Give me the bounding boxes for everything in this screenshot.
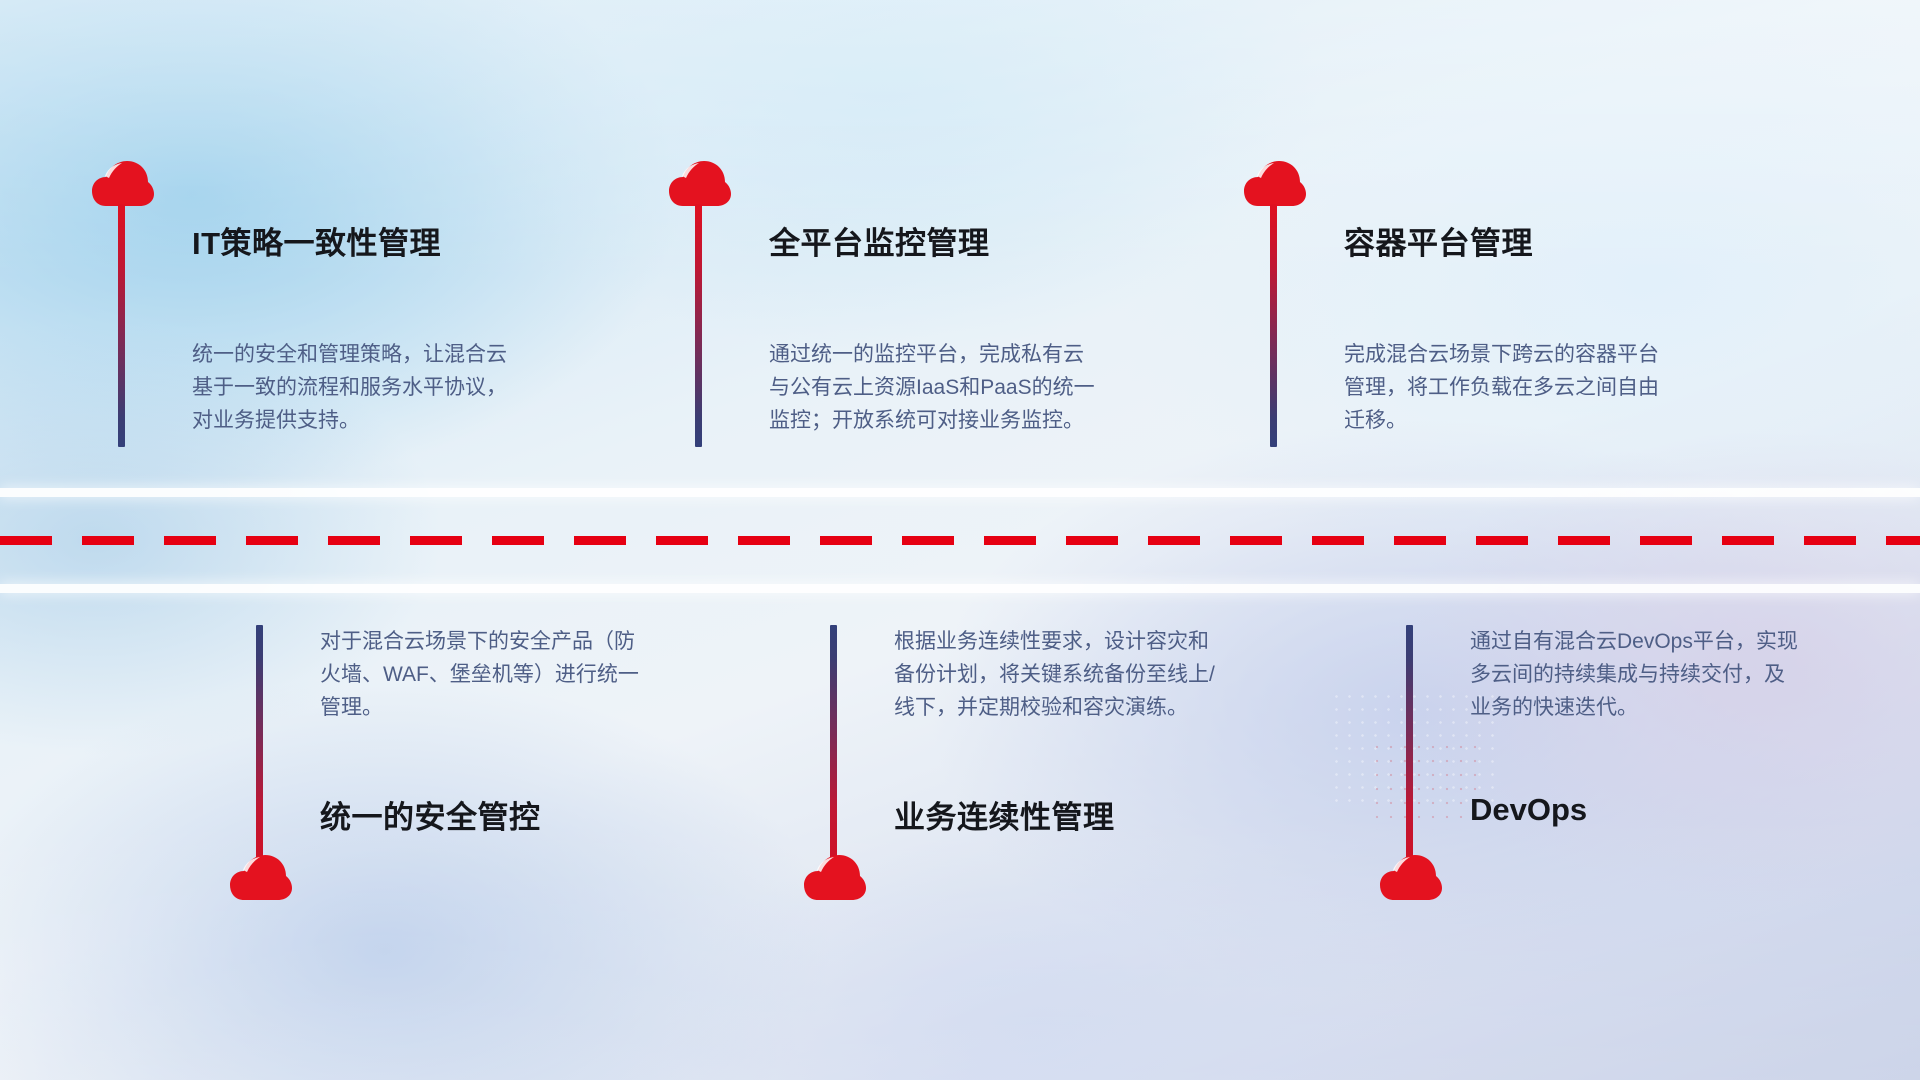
cloud-icon: [92, 160, 154, 208]
feature-description: 对于混合云场景下的安全产品（防火墙、WAF、堡垒机等）进行统一管理。: [320, 625, 650, 724]
feature-title: 容器平台管理: [1344, 218, 1533, 263]
divider-dashed-red-line: [0, 536, 1920, 545]
cloud-icon: [804, 854, 866, 902]
feature-title: 业务连续性管理: [894, 792, 1115, 837]
feature-description: 通过自有混合云DevOps平台，实现多云间的持续集成与持续交付，及业务的快速迭代…: [1470, 625, 1800, 724]
feature-title: DevOps: [1470, 792, 1587, 828]
connector-stem: [830, 625, 837, 860]
cloud-icon: [1244, 160, 1306, 208]
divider-white-bar-bottom: [0, 584, 1920, 593]
feature-title: IT策略一致性管理: [192, 218, 441, 263]
cloud-icon: [230, 854, 292, 902]
feature-description: 通过统一的监控平台，完成私有云与公有云上资源IaaS和PaaS的统一监控；开放系…: [769, 338, 1099, 437]
connector-stem: [118, 204, 125, 447]
feature-title: 统一的安全管控: [320, 792, 541, 837]
cloud-icon: [669, 160, 731, 208]
connector-stem: [695, 204, 702, 447]
dot-texture-red: [1370, 740, 1480, 830]
feature-description: 根据业务连续性要求，设计容灾和备份计划，将关键系统备份至线上/线下，并定期校验和…: [894, 625, 1224, 724]
connector-stem: [1270, 204, 1277, 447]
feature-title: 全平台监控管理: [769, 218, 990, 263]
divider-band: [0, 488, 1920, 593]
connector-stem: [256, 625, 263, 860]
feature-description: 完成混合云场景下跨云的容器平台管理，将工作负载在多云之间自由迁移。: [1344, 338, 1674, 437]
cloud-icon: [1380, 854, 1442, 902]
feature-description: 统一的安全和管理策略，让混合云基于一致的流程和服务水平协议，对业务提供支持。: [192, 338, 522, 437]
divider-white-bar-top: [0, 488, 1920, 497]
connector-stem: [1406, 625, 1413, 860]
